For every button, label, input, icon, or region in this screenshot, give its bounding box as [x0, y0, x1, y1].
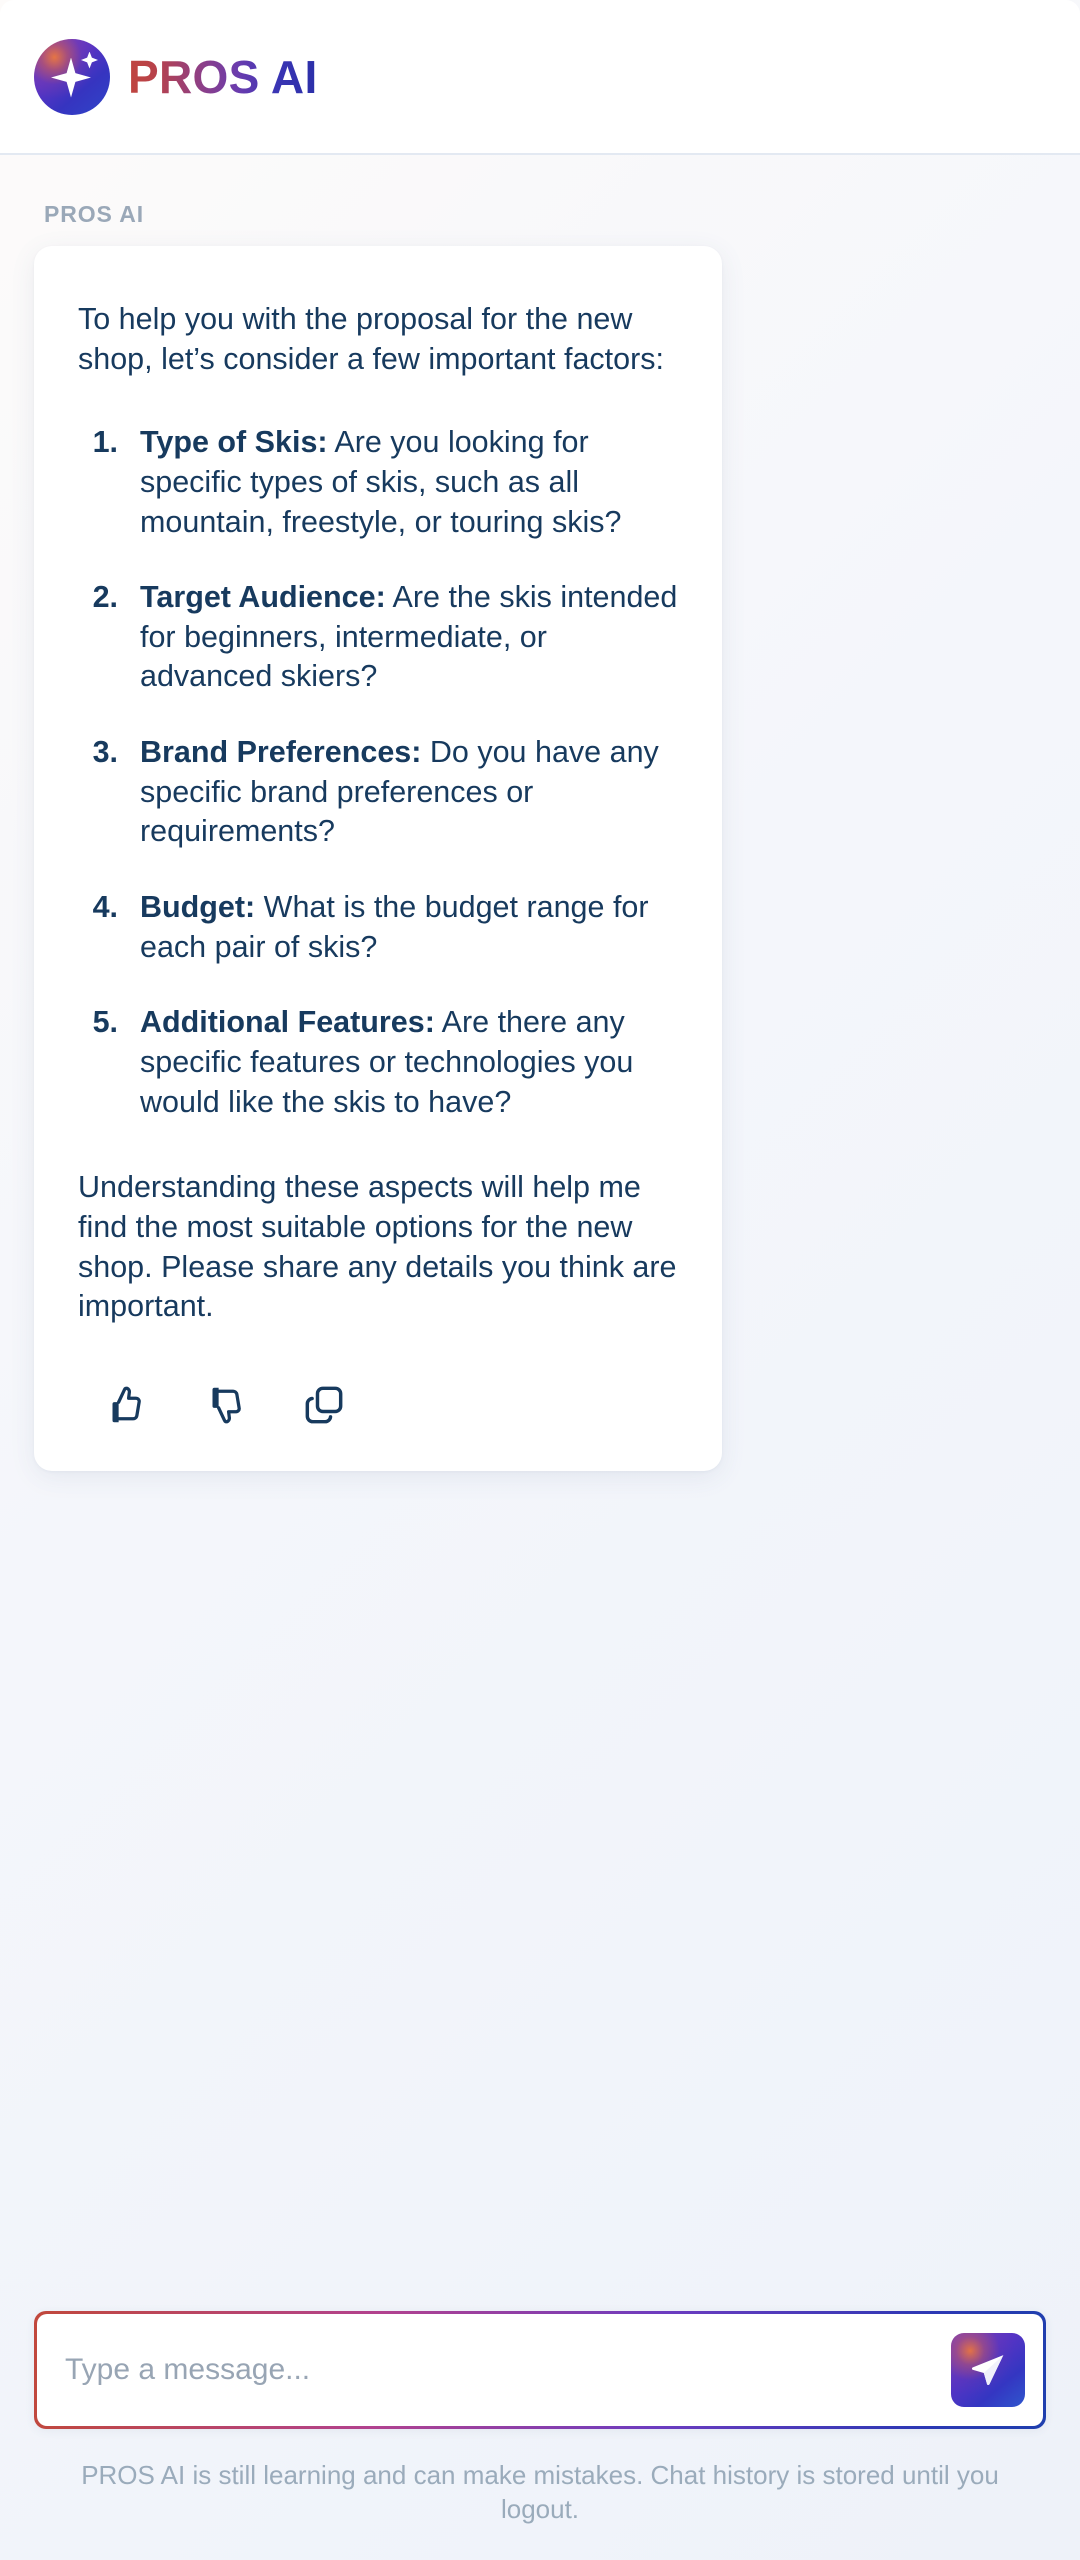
list-item: 1. Type of Skis: Are you looking for spe…: [78, 423, 678, 542]
message-intro-text: To help you with the proposal for the ne…: [78, 300, 678, 379]
list-item: 4. Budget: What is the budget range for …: [78, 888, 678, 967]
list-item-number: 4.: [78, 888, 140, 928]
list-item-body: Target Audience: Are the skis intended f…: [140, 578, 678, 697]
list-item-label: Target Audience:: [140, 580, 386, 614]
list-item-label: Additional Features:: [140, 1005, 435, 1039]
message-actions: [78, 1379, 678, 1431]
thumbs-down-icon[interactable]: [198, 1379, 250, 1431]
sparkle-logo-icon: [34, 39, 110, 115]
list-item-label: Budget:: [140, 890, 255, 924]
list-item-body: Additional Features: Are there any speci…: [140, 1003, 678, 1122]
disclaimer-text: PROS AI is still learning and can make m…: [0, 2443, 1080, 2560]
list-item: 2. Target Audience: Are the skis intende…: [78, 578, 678, 697]
send-paper-plane-icon: [968, 2350, 1008, 2390]
copy-icon[interactable]: [298, 1379, 350, 1431]
brand-wordmark: PROS AI: [128, 54, 318, 100]
message-sender-label: PROS AI: [44, 201, 1046, 228]
factors-list: 1. Type of Skis: Are you looking for spe…: [78, 423, 678, 1122]
list-item-body: Brand Preferences: Do you have any speci…: [140, 733, 678, 852]
thumbs-up-icon[interactable]: [98, 1379, 150, 1431]
list-item-body: Budget: What is the budget range for eac…: [140, 888, 678, 967]
list-item-label: Brand Preferences:: [140, 735, 421, 769]
list-item-number: 5.: [78, 1003, 140, 1043]
list-item-number: 1.: [78, 423, 140, 463]
composer-inner: [37, 2314, 1043, 2426]
sparkle-small-icon: [81, 52, 98, 69]
send-button[interactable]: [951, 2333, 1025, 2407]
list-item: 3. Brand Preferences: Do you have any sp…: [78, 733, 678, 852]
chat-area: PROS AI To help you with the proposal fo…: [0, 155, 1080, 2311]
composer: [0, 2311, 1080, 2429]
sparkle-large-icon: [51, 58, 91, 98]
assistant-message-bubble: To help you with the proposal for the ne…: [34, 246, 722, 1471]
app-header: PROS AI: [0, 0, 1080, 155]
brand: PROS AI: [34, 39, 318, 115]
list-item-number: 2.: [78, 578, 140, 618]
list-item-body: Type of Skis: Are you looking for specif…: [140, 423, 678, 542]
list-item-number: 3.: [78, 733, 140, 773]
message-outro-text: Understanding these aspects will help me…: [78, 1168, 678, 1327]
composer-gradient-border: [34, 2311, 1046, 2429]
list-item: 5. Additional Features: Are there any sp…: [78, 1003, 678, 1122]
list-item-label: Type of Skis:: [140, 425, 328, 459]
message-input[interactable]: [65, 2314, 951, 2426]
chat-app: PROS AI PROS AI To help you with the pro…: [0, 0, 1080, 2560]
